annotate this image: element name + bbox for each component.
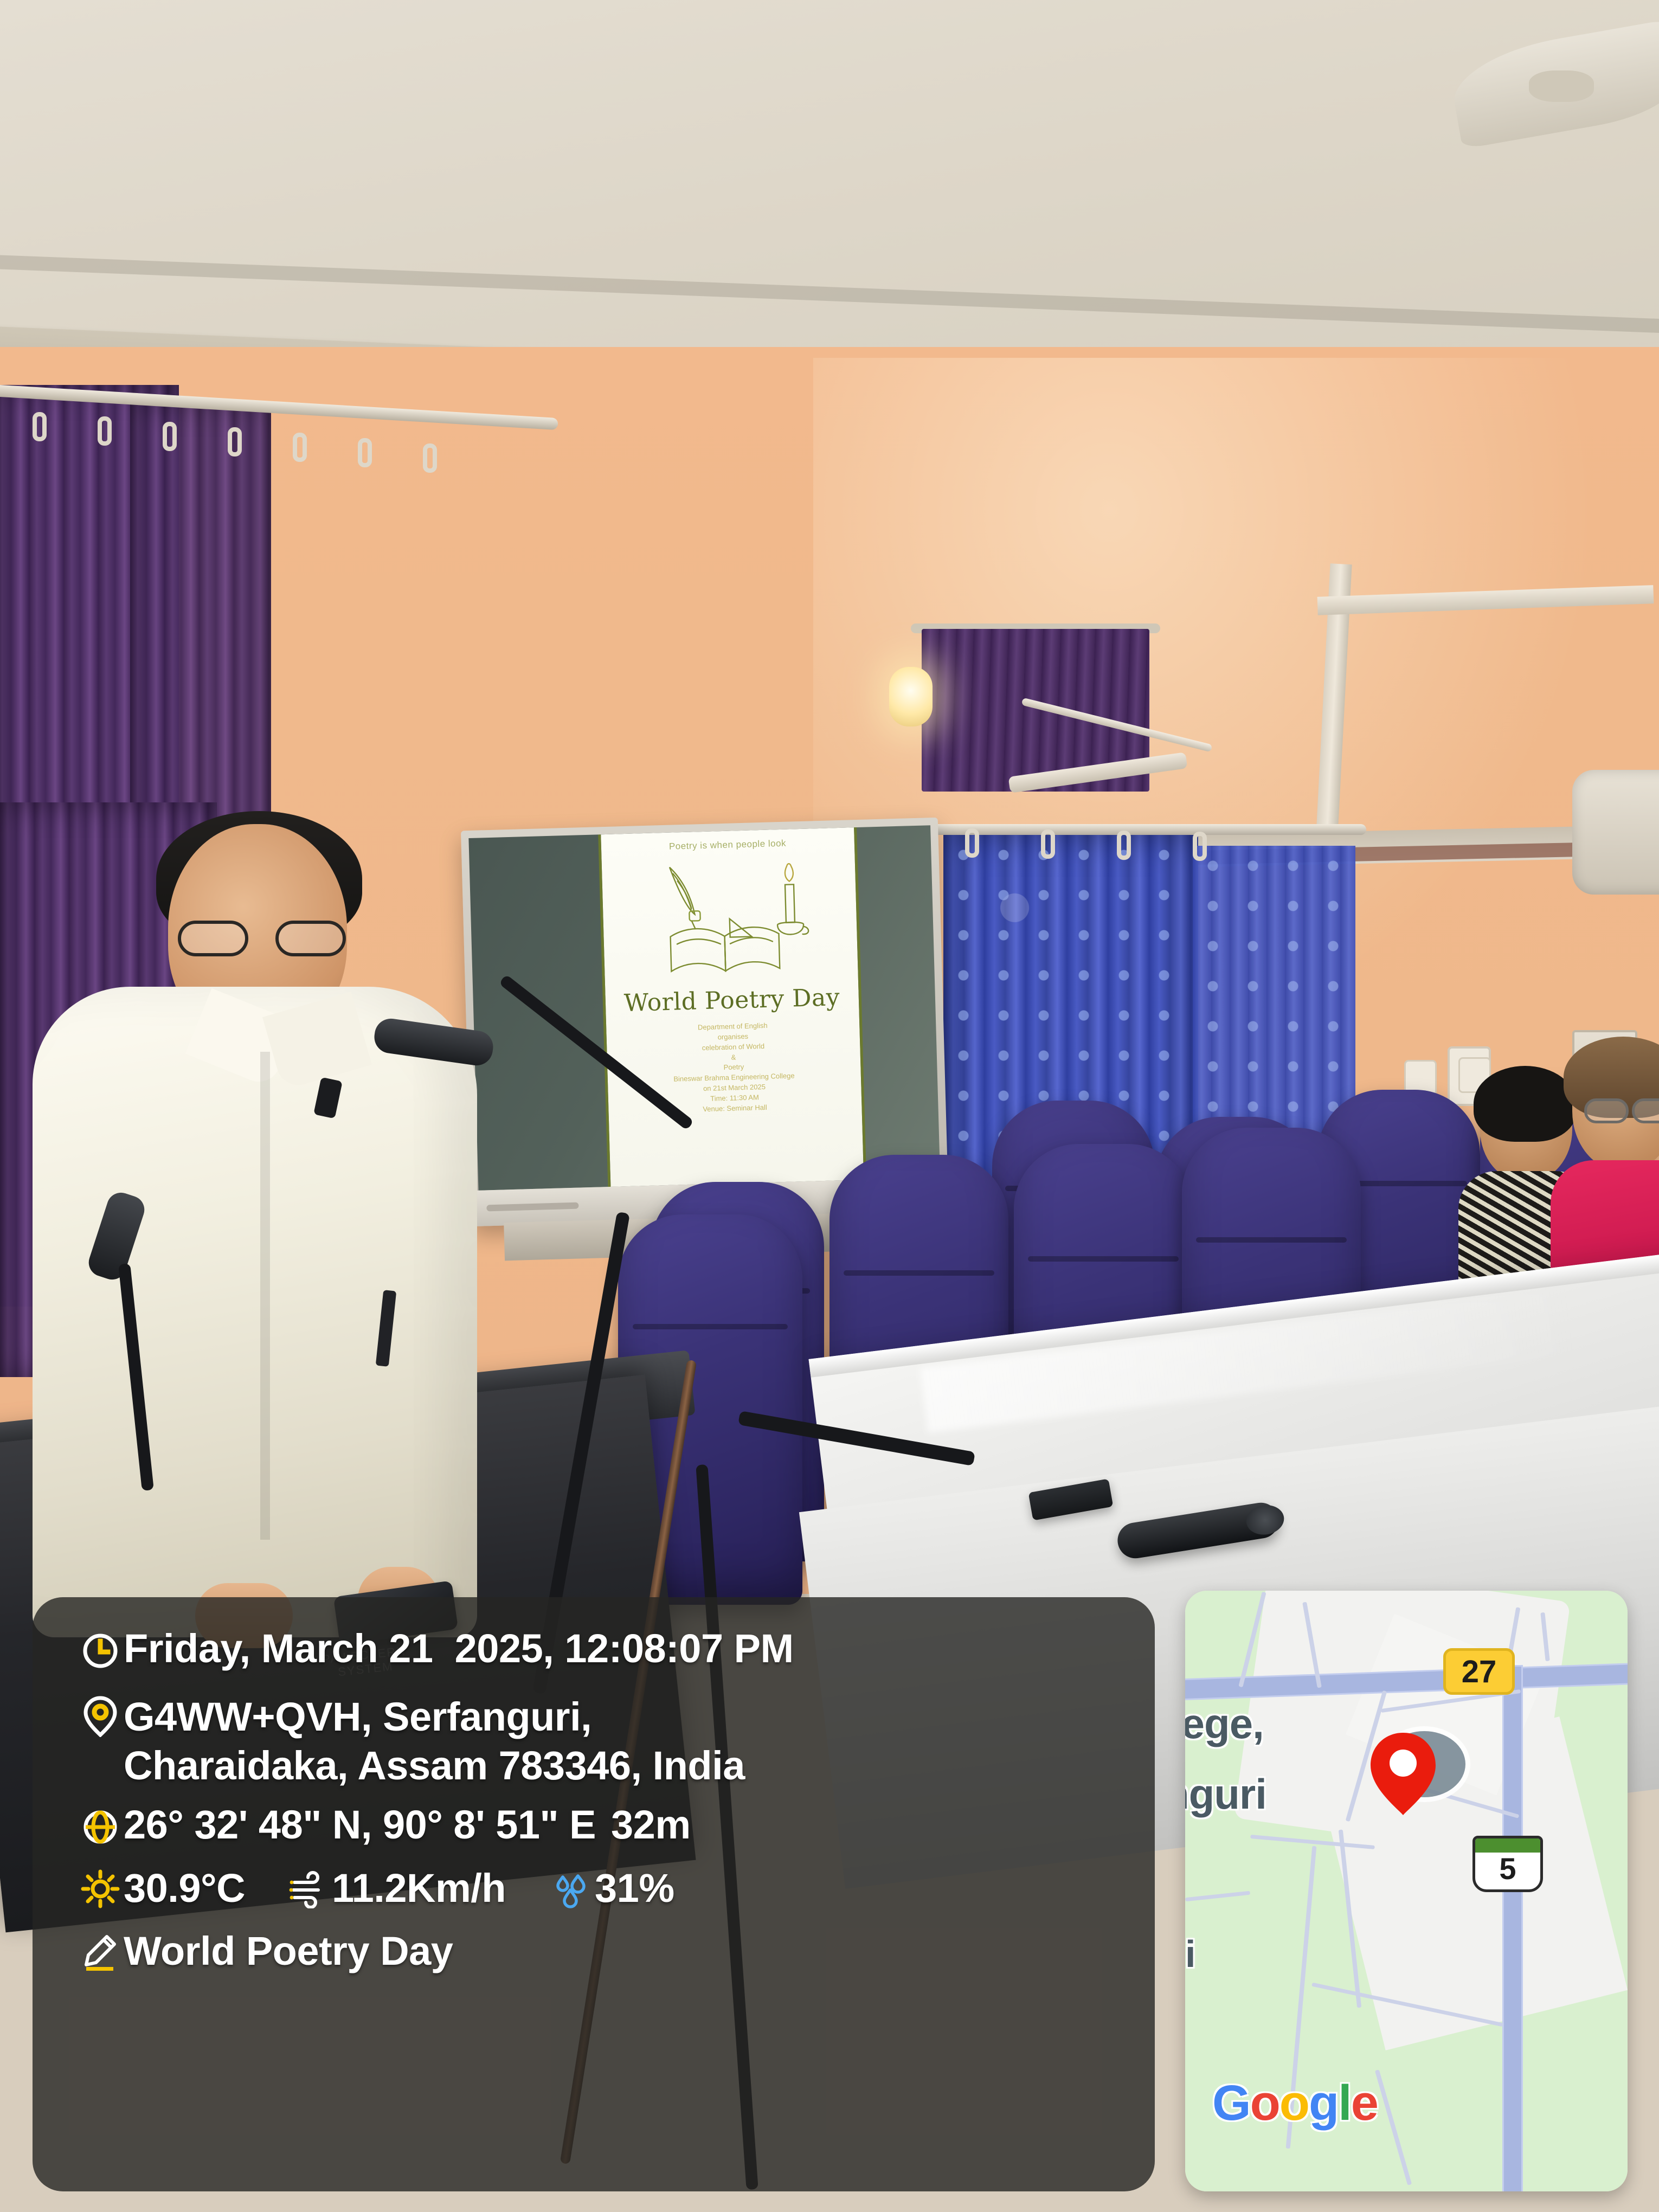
curtain-ring	[228, 427, 242, 456]
eyeglass-lens-right	[275, 921, 346, 956]
google-logo: Google	[1212, 2075, 1378, 2132]
curtain-ring	[1041, 829, 1055, 859]
globe-icon	[77, 1804, 124, 1850]
google-letter-g2: g	[1309, 2075, 1338, 2131]
gps-stamp-overlay: Friday, March 21 2025, 12:08:07 PM G4WW+…	[33, 1597, 1155, 2191]
slide-top-line: Poetry is when people look	[669, 838, 787, 852]
eyeglasses	[178, 921, 346, 959]
note-text: World Poetry Day	[124, 1930, 453, 1972]
note-pencil-icon	[77, 1928, 124, 1975]
curtain-ring	[1117, 831, 1131, 860]
ceiling-lamp-bulb	[889, 667, 933, 726]
temperature-item: 30.9°C	[77, 1866, 245, 1912]
humidity-item: 31%	[548, 1866, 674, 1912]
map-label-partial-serfanguri: nguri	[1185, 1770, 1266, 1819]
map-label-partial-college: lege,	[1185, 1699, 1264, 1748]
smartboard-logo-slot	[486, 1203, 578, 1212]
curtain-ring	[423, 443, 437, 473]
address-block: G4WW+QVH, Serfanguri, Charaidaka, Assam …	[124, 1693, 745, 1791]
map-inset[interactable]: lege, nguri i 27 5 Google	[1185, 1591, 1628, 2191]
humidity-droplet-icon	[548, 1866, 595, 1912]
datetime-text: Friday, March 21 2025, 12:08:07 PM	[124, 1628, 794, 1670]
presentation-slide: Poetry is when people look	[598, 827, 866, 1187]
slide-detail-lines: Department of English organises celebrat…	[672, 1020, 796, 1115]
google-letter-l: l	[1338, 2075, 1351, 2131]
datetime-row: Friday, March 21 2025, 12:08:07 PM	[77, 1628, 1155, 1674]
screenshot-root: Poetry is when people look	[0, 0, 1659, 2212]
address-line-2: Charaidaka, Assam 783346, India	[124, 1741, 745, 1790]
curtain-rod-blue	[933, 824, 1366, 835]
wind-speed-text: 11.2Km/h	[332, 1867, 506, 1909]
wall-fan-vent	[1572, 770, 1659, 895]
sun-icon	[77, 1866, 124, 1912]
note-row: World Poetry Day	[77, 1928, 1155, 1975]
altitude-text: 32m	[596, 1804, 691, 1846]
google-letter-o2: o	[1279, 2075, 1309, 2131]
google-letter-o1: o	[1250, 2075, 1279, 2131]
speaker-shirt	[33, 987, 477, 1637]
address-line-1: G4WW+QVH, Serfanguri,	[124, 1693, 745, 1741]
humidity-text: 31%	[595, 1867, 674, 1909]
curtain-ring	[965, 828, 979, 858]
curtain-ring	[1193, 832, 1207, 861]
google-letter-e: e	[1351, 2075, 1378, 2131]
coordinates-text: 26° 32' 48" N, 90° 8' 51" E	[124, 1804, 596, 1846]
quill-book-candle-icon	[647, 854, 813, 986]
curtain-ring	[98, 416, 112, 446]
google-letter-g: G	[1212, 2075, 1250, 2131]
curtain-ring	[358, 438, 372, 467]
curtain-ring	[163, 422, 177, 451]
wind-item: 11.2Km/h	[285, 1866, 506, 1912]
coordinates-row: 26° 32' 48" N, 90° 8' 51" E 32m	[77, 1804, 1155, 1850]
location-pin-icon	[77, 1693, 124, 1739]
highway-shield-27: 27	[1443, 1648, 1515, 1695]
slide-title: World Poetry Day	[623, 983, 840, 1017]
eyeglass-lens-left	[178, 921, 248, 956]
ceiling-fan-hub	[1529, 70, 1594, 102]
highway-shield-5: 5	[1472, 1836, 1543, 1892]
address-row: G4WW+QVH, Serfanguri, Charaidaka, Assam …	[77, 1693, 1155, 1791]
clock-icon	[77, 1628, 124, 1674]
shirt-placket	[260, 1052, 270, 1540]
map-label-partial-i: i	[1185, 1932, 1195, 1976]
map-location-pin-icon[interactable]	[1358, 1727, 1449, 1818]
wind-icon	[285, 1866, 332, 1912]
map-highway-vertical	[1504, 1667, 1521, 2191]
curtain-ring	[293, 433, 307, 462]
weather-row: 30.9°C	[77, 1866, 1155, 1912]
temperature-text: 30.9°C	[124, 1867, 245, 1909]
curtain-ring	[33, 412, 47, 441]
